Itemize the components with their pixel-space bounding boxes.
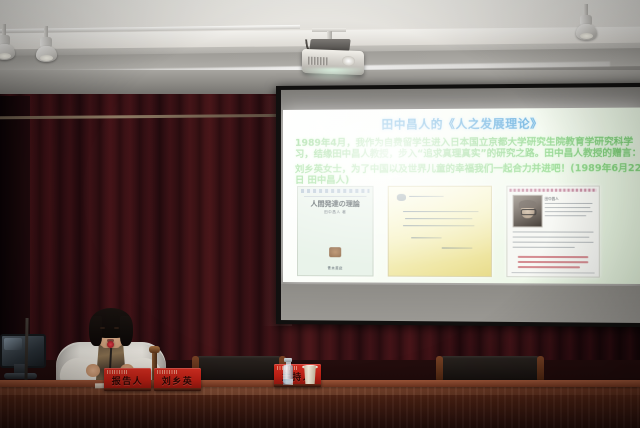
placard-base — [154, 388, 201, 391]
note-stroke — [403, 225, 475, 227]
placard-label: 刘乡英 — [154, 374, 201, 387]
monitor-glare — [4, 338, 22, 350]
doc-text-line — [513, 242, 594, 243]
presentation-slide: 田中昌人的《人之发展理论》 1989年4月，我作为自费留学生进入日本国立京都大学… — [283, 108, 640, 285]
slide-body: 1989年4月，我作为自费留学生进入日本国立京都大学研究生院教育学研究科学习，结… — [295, 136, 640, 186]
spot-lens — [580, 33, 593, 39]
table-grain — [0, 387, 640, 428]
slide-image-row: 人間発達の理論 田中昌人 著 青木書店 — [297, 186, 640, 276]
table-microphone-head — [149, 346, 160, 353]
book-title-text: 人間発達の理論 — [298, 199, 373, 209]
slide-paragraph-1: 1989年4月，我作为自费留学生进入日本国立京都大学研究生院教育学研究科学习，结… — [295, 136, 640, 160]
monitor-base — [4, 373, 37, 379]
monitor-screen — [0, 334, 46, 368]
projection-screen: 田中昌人的《人之发展理论》 1989年4月，我作为自费留学生进入日本国立京都大学… — [276, 83, 640, 327]
screen-surface: 田中昌人的《人之发展理论》 1989年4月，我作为自费留学生进入日本国立京都大学… — [281, 87, 640, 323]
name-placard-speaker-name: 刘乡英 — [154, 368, 201, 390]
doc-highlight-line — [518, 256, 589, 258]
projector-light-glow — [298, 68, 368, 82]
ceiling-panel — [0, 0, 640, 28]
projector-lens-icon — [342, 56, 355, 66]
doc-text-line — [513, 231, 594, 232]
doc-text-line — [513, 247, 575, 248]
book-top-pattern — [301, 189, 369, 193]
slide-image-profile-document: 田中昌人 — [506, 186, 599, 278]
doc-text-line — [513, 237, 590, 238]
screen-bottom-margin — [281, 284, 640, 323]
spot-lens — [40, 55, 53, 61]
speaker-eye — [100, 327, 105, 329]
bottle-label — [283, 379, 293, 385]
note-stroke — [409, 196, 444, 197]
speaker-eye — [114, 327, 119, 329]
book-publisher-text: 青木書店 — [298, 265, 373, 270]
book-author-text: 田中昌人 著 — [298, 210, 373, 215]
water-bottle — [283, 358, 293, 384]
doc-text-line — [545, 207, 591, 208]
slide-image-handwritten-note — [388, 186, 492, 277]
slide-image-book-cover: 人間発達の理論 田中昌人 著 青木書店 — [297, 186, 374, 277]
doc-text-line — [545, 215, 587, 216]
placard-base — [104, 388, 151, 391]
doc-header-band — [509, 188, 596, 191]
note-signature-stroke — [442, 247, 473, 249]
projector-vent — [308, 57, 328, 66]
doc-footer-line — [512, 272, 595, 273]
portrait-hair — [519, 200, 537, 208]
placard-label: 报告人 — [104, 374, 151, 387]
doc-highlight-line — [518, 266, 580, 268]
speaker-left-hand — [86, 364, 100, 377]
doc-text-line — [545, 211, 593, 212]
note-stroke — [405, 218, 472, 219]
ceiling-projector — [296, 40, 366, 82]
book-divider — [304, 196, 366, 197]
name-placard-presenter: 报告人 — [104, 368, 151, 390]
speaker-hair-side — [89, 316, 102, 346]
lecture-hall-photo: 田中昌人的《人之发展理论》 1989年4月，我作为自费留学生进入日本国立京都大学… — [0, 0, 640, 428]
speaker-hair-side — [120, 316, 133, 346]
microphone-icon — [107, 341, 114, 348]
chair — [440, 356, 540, 382]
doc-name-text: 田中昌人 — [545, 196, 559, 201]
note-stroke — [411, 237, 442, 238]
portrait-photo — [513, 195, 543, 228]
computer-monitor — [0, 334, 44, 384]
note-stroke — [397, 194, 406, 201]
note-stroke — [403, 211, 479, 212]
book-seal-icon — [329, 247, 341, 257]
chair — [196, 356, 282, 382]
bottle-body — [283, 365, 293, 384]
placard-base — [274, 384, 321, 387]
doc-text-line — [545, 203, 593, 204]
slide-title: 田中昌人的《人之发展理论》 — [283, 115, 640, 133]
doc-highlight-line — [518, 261, 589, 263]
glasses-icon — [521, 209, 537, 215]
slide-paragraph-2: 刘乡英女士，为了中国以及世界儿童的幸福我们一起合力并进吧！(1989年6月22日… — [295, 163, 640, 187]
